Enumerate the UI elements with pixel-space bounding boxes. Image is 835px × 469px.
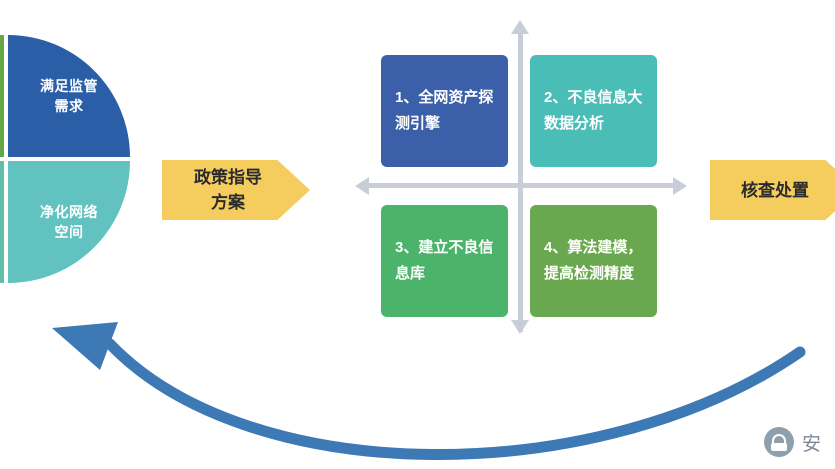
pie-slice-teal-label: 净化网络 空间 [27,202,111,242]
quadrant-box-2[interactable]: 2、不良信息大 数据分析 [530,55,657,167]
feedback-loop-arrow [0,300,835,469]
pie-slice-blue-label: 满足监管 需求 [27,76,111,116]
left-circle-cluster: 满足监管 需求 净化网络 空间 [0,35,138,295]
watermark: 安 [764,427,821,457]
axis-vertical [518,32,523,332]
pie-slice-green-top[interactable] [0,35,4,157]
chevron-policy-guidance[interactable]: 政策指导 方案 [162,160,310,220]
quadrant-box-4-label: 4、算法建模， 提高检测精度 [544,235,642,287]
axis-horizontal [367,183,675,188]
quadrant-box-1-label: 1、全网资产探 测引擎 [395,85,493,137]
arrow-right-icon [673,177,687,195]
chevron-review-disposal[interactable]: 核查处置 [710,160,835,220]
pie-slice-mint-bottom[interactable] [0,161,4,283]
arrow-up-icon [511,20,529,34]
quadrant-box-2-label: 2、不良信息大 数据分析 [544,85,642,137]
quadrant-box-1[interactable]: 1、全网资产探 测引擎 [381,55,508,167]
pie-slice-blue[interactable]: 满足监管 需求 [8,35,130,157]
quadrant-box-3-label: 3、建立不良信 息库 [395,235,493,287]
chevron-review-label: 核查处置 [741,178,809,203]
diagram-canvas: 满足监管 需求 净化网络 空间 政策指导 方案 1、全网资产探 测引擎 2、不良… [0,0,835,469]
watermark-text: 安 [802,429,821,456]
arrow-left-icon [355,177,369,195]
chevron-policy-label: 政策指导 方案 [194,165,262,215]
quadrant-group: 1、全网资产探 测引擎 2、不良信息大 数据分析 3、建立不良信 息库 4、算法… [363,20,683,340]
shield-person-icon [764,427,794,457]
pie-slice-teal[interactable]: 净化网络 空间 [8,161,130,283]
